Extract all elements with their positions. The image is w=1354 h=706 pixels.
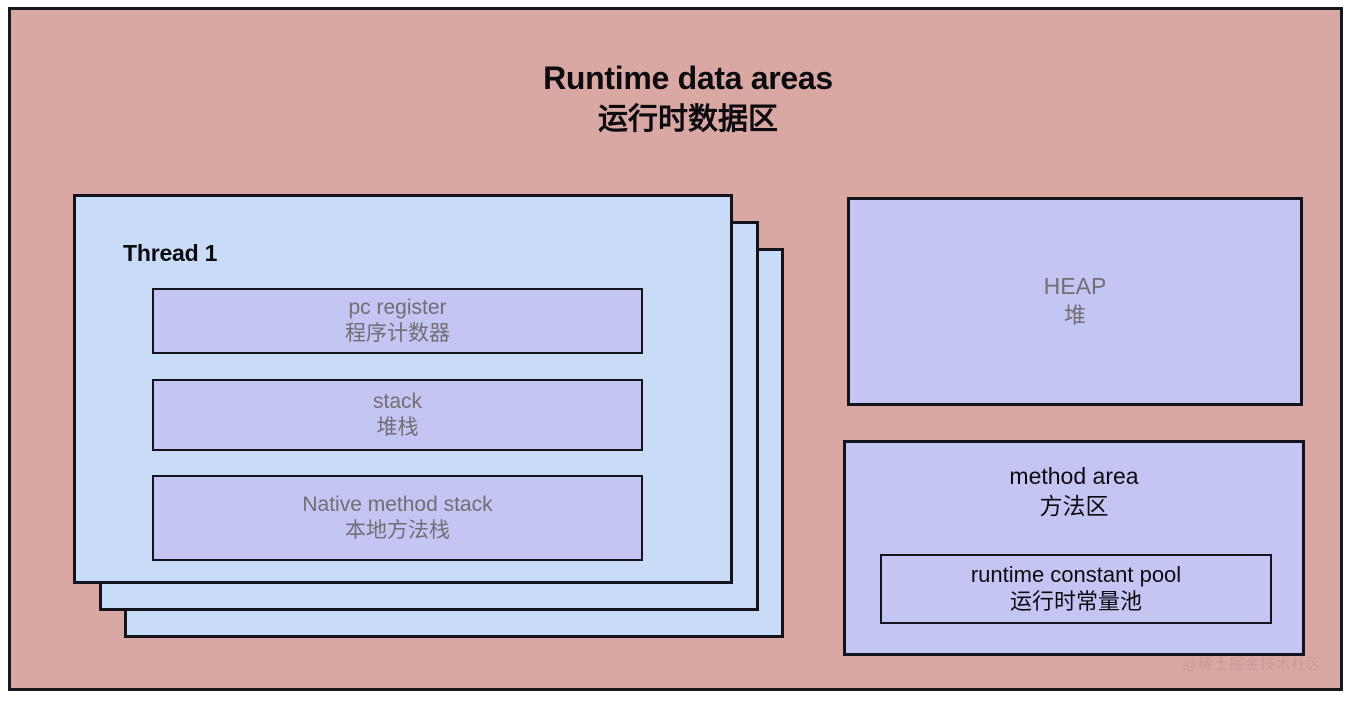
memory-box-pc-register: pc register 程序计数器 [152, 288, 643, 354]
runtime-constant-pool-box: runtime constant pool 运行时常量池 [880, 554, 1272, 624]
native-method-stack-label-en: Native method stack [302, 492, 492, 518]
stack-label-en: stack [373, 389, 422, 415]
method-area-label-en: method area [846, 461, 1302, 491]
heap-box: HEAP 堆 [847, 197, 1303, 406]
thread-label: Thread 1 [123, 240, 217, 267]
memory-box-stack: stack 堆栈 [152, 379, 643, 451]
native-method-stack-label-cn: 本地方法栈 [345, 518, 450, 544]
method-area-box: method area 方法区 runtime constant pool 运行… [843, 440, 1305, 656]
memory-box-native-method-stack: Native method stack 本地方法栈 [152, 475, 643, 561]
thread-panel-layer-1: Thread 1 pc register 程序计数器 stack 堆栈 Nati… [73, 194, 733, 584]
method-area-label-cn: 方法区 [846, 491, 1302, 521]
pc-register-label-en: pc register [348, 295, 446, 321]
runtime-data-areas-frame: Runtime data areas 运行时数据区 Thread 1 pc re… [8, 7, 1343, 691]
heap-label-cn: 堆 [1064, 302, 1086, 331]
page-title-en: Runtime data areas [11, 58, 1354, 98]
pc-register-label-cn: 程序计数器 [345, 321, 450, 347]
heap-label-en: HEAP [1044, 272, 1107, 302]
runtime-constant-pool-label-en: runtime constant pool [971, 562, 1181, 589]
page-title-cn: 运行时数据区 [11, 100, 1354, 139]
watermark: @稀土掘金技术社区 [1182, 653, 1322, 674]
method-area-labels: method area 方法区 [846, 461, 1302, 522]
runtime-constant-pool-label-cn: 运行时常量池 [1010, 589, 1142, 616]
stack-label-cn: 堆栈 [377, 415, 419, 441]
diagram-title-block: Runtime data areas 运行时数据区 [11, 58, 1354, 139]
diagram-canvas: Runtime data areas 运行时数据区 Thread 1 pc re… [0, 0, 1354, 706]
